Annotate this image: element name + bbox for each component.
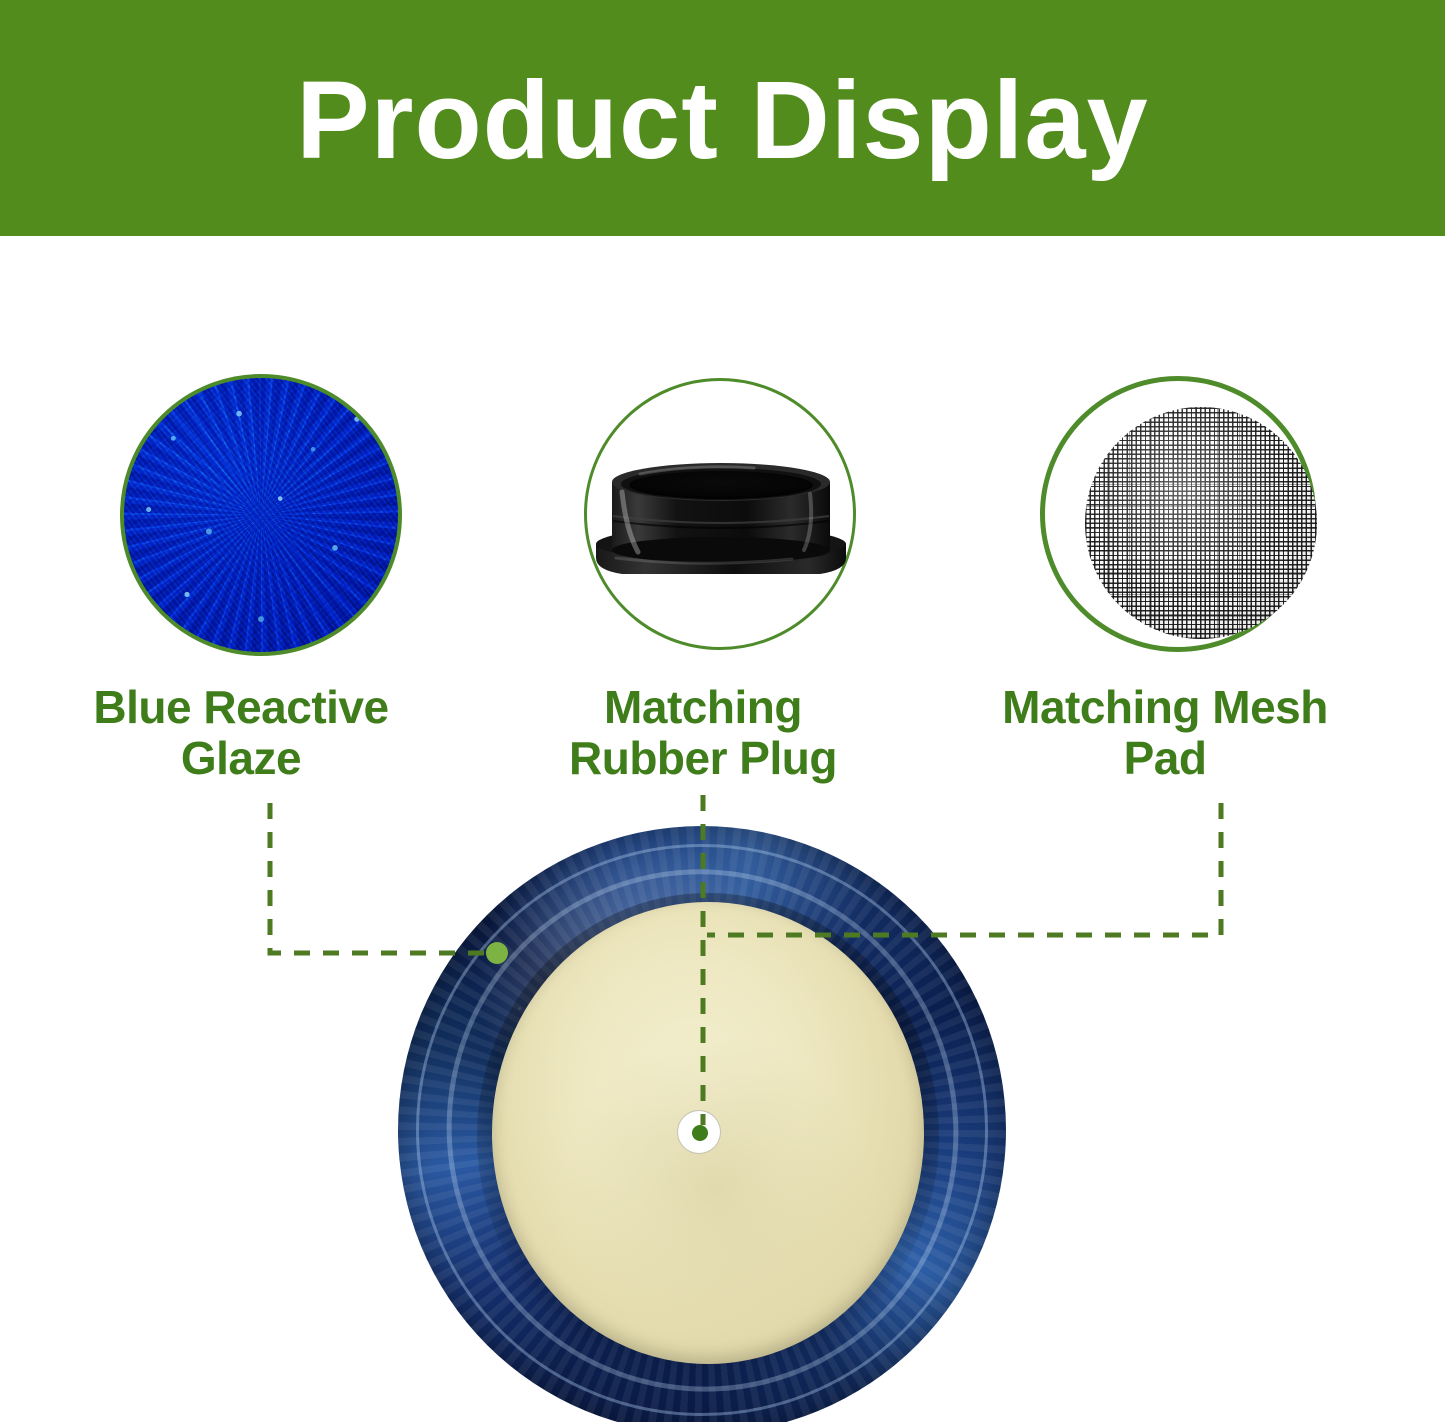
plug-swatch-wrap [560, 372, 846, 658]
product-display-infographic: Product Display Blue Reactive Glaze [0, 0, 1445, 1422]
mesh-swatch-wrap [1022, 372, 1308, 658]
feature-caption-plug: Matching Rubber Plug [538, 682, 868, 783]
glaze-swatch-wrap [98, 372, 384, 658]
page-title: Product Display [296, 66, 1148, 176]
header-banner: Product Display [0, 0, 1445, 236]
product-planter-photo [398, 826, 1006, 1422]
drainage-hole-marker-dot [692, 1125, 708, 1141]
blue-glaze-swatch-icon [120, 374, 402, 656]
feature-matching-rubber-plug: Matching Rubber Plug [538, 372, 868, 783]
feature-caption-glaze: Blue Reactive Glaze [76, 682, 406, 783]
feature-caption-mesh: Matching Mesh Pad [1000, 682, 1330, 783]
rubber-plug-icon [582, 458, 860, 588]
mesh-pad-icon [1085, 407, 1317, 639]
feature-blue-reactive-glaze: Blue Reactive Glaze [76, 372, 406, 783]
feature-matching-mesh-pad: Matching Mesh Pad [1000, 372, 1330, 783]
mesh-ring-outline [1040, 376, 1316, 652]
